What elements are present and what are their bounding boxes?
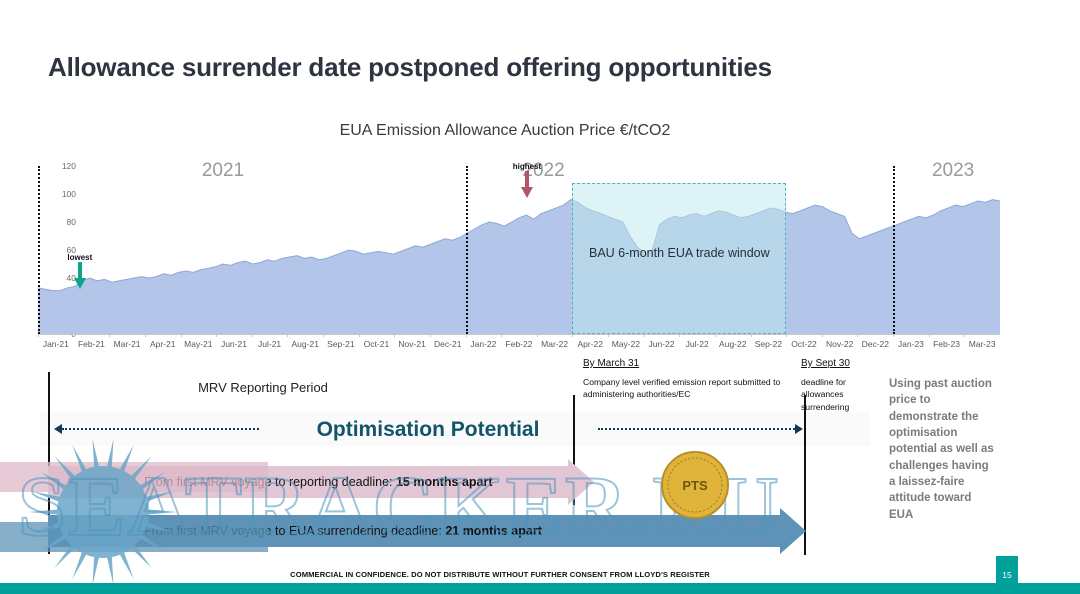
bau-trade-window-label: BAU 6-month EUA trade window bbox=[572, 245, 786, 262]
year-divider-line bbox=[466, 166, 468, 334]
arrow-bar-label: From first MRV voyage to EUA surrenderin… bbox=[144, 524, 542, 538]
x-tick-label: Jun-22 bbox=[649, 339, 675, 349]
chart-title: EUA Emission Allowance Auction Price €/t… bbox=[0, 122, 1010, 140]
x-tick-label: Sep-22 bbox=[755, 339, 782, 349]
arrow-bar-bold: 21 months apart bbox=[445, 524, 542, 538]
x-tick-mark bbox=[145, 334, 146, 337]
x-tick-mark bbox=[109, 334, 110, 337]
x-tick-label: Feb-21 bbox=[78, 339, 105, 349]
x-tick-label: Aug-21 bbox=[292, 339, 319, 349]
arrow-bar-head bbox=[780, 508, 806, 554]
arrow-bar-15-months: From first MRV voyage to reporting deadl… bbox=[48, 466, 594, 498]
x-tick-mark bbox=[786, 334, 787, 337]
x-tick-mark bbox=[537, 334, 538, 337]
x-axis-labels: Jan-21Feb-21Mar-21Apr-21May-21Jun-21Jul-… bbox=[38, 337, 1000, 353]
x-tick-mark bbox=[252, 334, 253, 337]
x-tick-label: Jul-21 bbox=[258, 339, 281, 349]
x-tick-mark bbox=[751, 334, 752, 337]
x-tick-label: Feb-22 bbox=[506, 339, 533, 349]
mrv-reporting-period-label: MRV Reporting Period bbox=[198, 380, 328, 395]
x-tick-mark bbox=[822, 334, 823, 337]
x-tick-label: Mar-22 bbox=[541, 339, 568, 349]
x-tick-mark bbox=[893, 334, 894, 337]
x-tick-mark bbox=[929, 334, 930, 337]
x-tick-mark bbox=[466, 334, 467, 337]
deadline-sept-heading: By Sept 30 bbox=[801, 358, 850, 369]
x-tick-label: Dec-22 bbox=[862, 339, 889, 349]
x-tick-mark bbox=[216, 334, 217, 337]
arrow-bar-bold: 15 months apart bbox=[396, 475, 493, 489]
x-tick-label: Jan-23 bbox=[898, 339, 924, 349]
x-tick-label: Jan-22 bbox=[470, 339, 496, 349]
x-tick-label: Mar-21 bbox=[114, 339, 141, 349]
arrow-bar-prefix: From first MRV voyage to reporting deadl… bbox=[144, 475, 393, 489]
x-tick-label: Oct-22 bbox=[791, 339, 817, 349]
x-tick-label: Mar-23 bbox=[969, 339, 996, 349]
optimisation-arrow-right bbox=[598, 424, 803, 434]
footer-confidentiality-text: COMMERCIAL IN CONFIDENCE. DO NOT DISTRIB… bbox=[0, 570, 1000, 579]
footer-accent-bar bbox=[0, 583, 1080, 594]
x-axis-line bbox=[38, 334, 1000, 335]
x-tick-mark bbox=[38, 334, 39, 337]
x-tick-mark bbox=[394, 334, 395, 337]
deadline-sept-body: deadline for allowances surrendering bbox=[801, 376, 869, 413]
year-label: 2021 bbox=[202, 160, 244, 182]
x-tick-mark bbox=[181, 334, 182, 337]
annotation-label-lowest: lowest bbox=[67, 253, 92, 262]
arrow-bar-prefix: From first MRV voyage to EUA surrenderin… bbox=[144, 524, 442, 538]
seal-text: PTS bbox=[682, 478, 708, 493]
x-tick-label: Jun-21 bbox=[221, 339, 247, 349]
x-tick-label: Jul-22 bbox=[686, 339, 709, 349]
x-tick-label: Aug-22 bbox=[719, 339, 746, 349]
deadline-march-body: Company level verified emission report s… bbox=[583, 376, 798, 401]
chart-container: 020406080100120 BAU 6-month EUA trade wi… bbox=[0, 155, 1080, 360]
arrow-bar-21-months: From first MRV voyage to EUA surrenderin… bbox=[48, 515, 806, 547]
x-tick-label: May-22 bbox=[612, 339, 640, 349]
year-divider-line bbox=[38, 166, 40, 334]
optimisation-potential-title: Optimisation Potential bbox=[317, 418, 540, 442]
side-note-text: Using past auction price to demonstrate … bbox=[889, 376, 997, 523]
x-tick-mark bbox=[501, 334, 502, 337]
x-tick-mark bbox=[572, 334, 573, 337]
deadline-march-heading: By March 31 bbox=[583, 358, 639, 369]
x-tick-mark bbox=[430, 334, 431, 337]
x-tick-mark bbox=[644, 334, 645, 337]
x-tick-mark bbox=[715, 334, 716, 337]
annotation-label-highest: highest bbox=[513, 162, 541, 171]
x-tick-mark bbox=[359, 334, 360, 337]
x-tick-mark bbox=[857, 334, 858, 337]
optimisation-arrow-left bbox=[54, 424, 259, 434]
arrow-bar-label: From first MRV voyage to reporting deadl… bbox=[144, 475, 493, 489]
year-label: 2023 bbox=[932, 160, 974, 182]
x-tick-label: Nov-21 bbox=[398, 339, 425, 349]
x-tick-label: Dec-21 bbox=[434, 339, 461, 349]
x-tick-mark bbox=[323, 334, 324, 337]
x-tick-label: May-21 bbox=[184, 339, 212, 349]
x-tick-mark bbox=[679, 334, 680, 337]
x-tick-label: Feb-23 bbox=[933, 339, 960, 349]
x-tick-label: Oct-21 bbox=[364, 339, 390, 349]
x-tick-label: Nov-22 bbox=[826, 339, 853, 349]
year-divider-line bbox=[893, 166, 895, 334]
watermark-sunburst-icon bbox=[8, 437, 198, 587]
x-tick-label: Apr-22 bbox=[577, 339, 603, 349]
page-title: Allowance surrender date postponed offer… bbox=[48, 52, 948, 83]
x-tick-label: Jan-21 bbox=[43, 339, 69, 349]
arrow-bar-head bbox=[568, 459, 594, 505]
annotation-arrow-highest bbox=[520, 171, 534, 199]
annotation-arrow-lowest bbox=[73, 262, 87, 290]
x-tick-mark bbox=[964, 334, 965, 337]
x-tick-mark bbox=[74, 334, 75, 337]
x-tick-label: Apr-21 bbox=[150, 339, 176, 349]
area-chart-plot bbox=[38, 166, 1000, 334]
watermark-seal-icon: PTS bbox=[659, 449, 731, 521]
x-tick-mark bbox=[608, 334, 609, 337]
x-tick-mark bbox=[287, 334, 288, 337]
x-tick-label: Sep-21 bbox=[327, 339, 354, 349]
